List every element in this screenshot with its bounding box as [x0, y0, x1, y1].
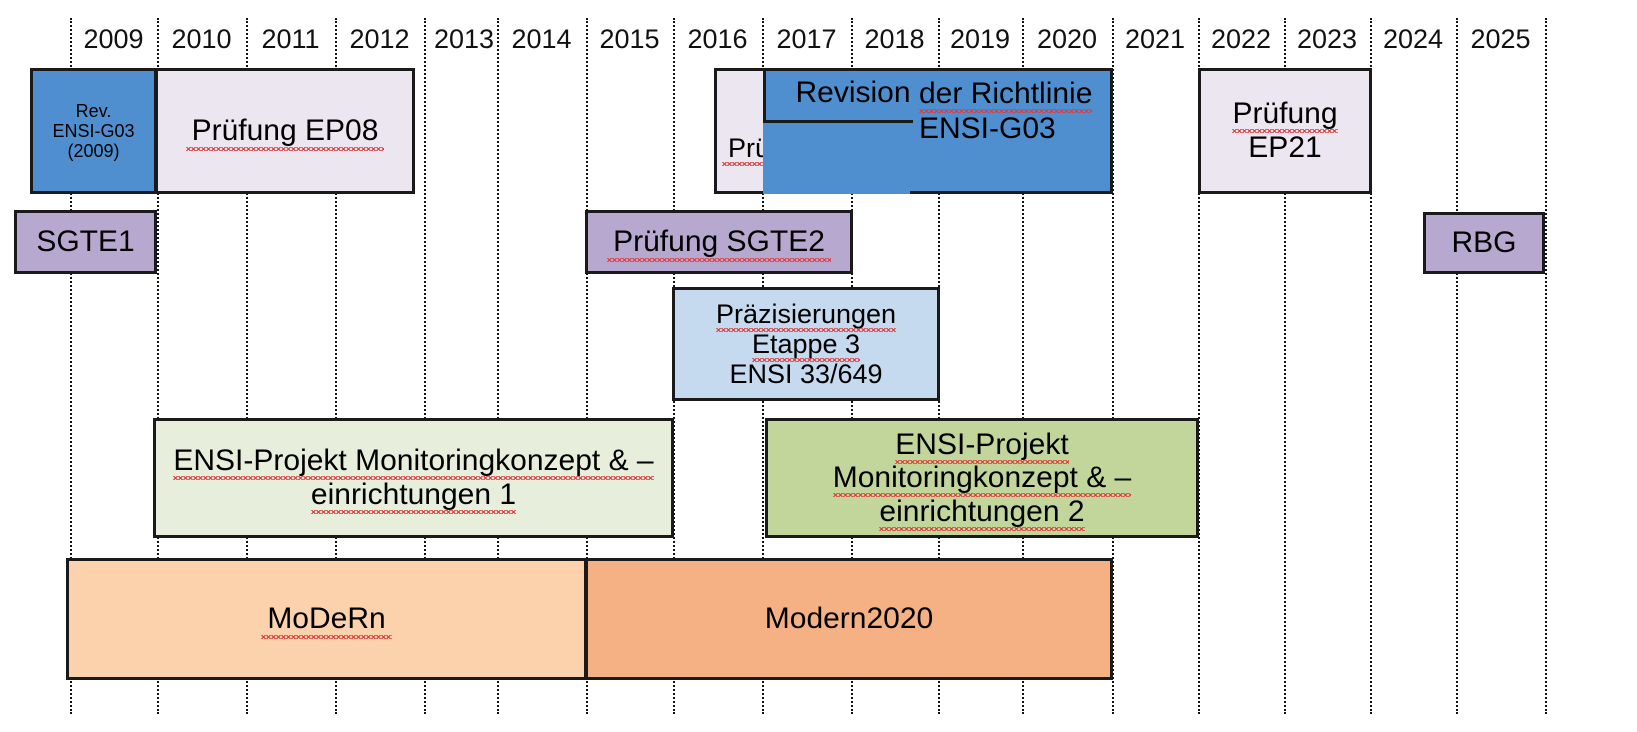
year-label-2017: 2017	[762, 22, 851, 56]
revision-line-1: der Richtlinie	[919, 77, 1092, 110]
year-label-2022: 2022	[1198, 22, 1284, 56]
bar-sgte1[interactable]: SGTE1	[14, 210, 157, 274]
bar-praezisierungen-etappe-3[interactable]: Präzisierungen Etappe 3 ENSI 33/649	[672, 287, 940, 401]
praez-line-2: Etappe 3	[752, 329, 860, 359]
year-label-2020: 2020	[1022, 22, 1112, 56]
bar-rbg[interactable]: RBG	[1423, 212, 1545, 274]
year-label-2009: 2009	[70, 22, 157, 56]
ensi1-line-2: einrichtungen 1	[311, 478, 516, 511]
rev-line-1: Rev.	[76, 101, 112, 121]
ensi2-line-3: einrichtungen 2	[879, 495, 1084, 528]
year-label-2025: 2025	[1456, 22, 1545, 56]
bar-pruefung-ep08[interactable]: Prüfung EP08	[155, 68, 415, 194]
bar-label-sgte1: SGTE1	[30, 225, 140, 259]
bar-pruefung-sgte2[interactable]: Prüfung SGTE2	[585, 210, 853, 274]
rev-line-2: ENSI-G03	[52, 121, 134, 141]
bar-label-revision-lines: der Richtlinie ENSI-G03	[913, 76, 1125, 147]
revision-left-edge	[763, 68, 766, 123]
bar-label-pruefung-ep21: Prüfung EP21	[1226, 97, 1343, 164]
year-label-2016: 2016	[673, 22, 762, 56]
year-label-2010: 2010	[157, 22, 246, 56]
year-label-2013: 2013	[424, 22, 504, 56]
bar-pruefung-ep21[interactable]: Prüfung EP21	[1198, 68, 1372, 194]
ensi2-line-2: Monitoringkonzept & –	[833, 461, 1132, 494]
rev-line-3: (2009)	[67, 141, 119, 161]
revision-line-2: ENSI-G03	[919, 112, 1056, 145]
timeline-chart: 2009 2010 2011 2012 2013 2014 2015 2016 …	[0, 0, 1637, 732]
bar-revision-richtlinie-ensi-g03[interactable]: Revision der Richtlinie ENSI-G03	[763, 68, 1113, 194]
bar-modern[interactable]: MoDeRn	[66, 558, 587, 680]
revision-notch-edge	[763, 120, 913, 123]
ep21-line-1: Prüfung	[1232, 97, 1337, 130]
year-label-2011: 2011	[246, 22, 335, 56]
bar-label-modern2020: Modern2020	[759, 602, 939, 636]
year-label-2015: 2015	[586, 22, 673, 56]
bar-ensi-projekt-monitoring-1[interactable]: ENSI-Projekt Monitoringkonzept & – einri…	[153, 418, 674, 538]
praez-line-1: Präzisierungen	[716, 299, 896, 329]
bar-label-pruefung-sgte2: Prüfung SGTE2	[607, 225, 831, 259]
gridline-2026-right	[1545, 18, 1547, 714]
bar-label-revision-word: Revision	[777, 76, 929, 110]
bar-label-rbg: RBG	[1445, 226, 1522, 260]
year-label-2019: 2019	[938, 22, 1022, 56]
ep21-line-2: EP21	[1248, 131, 1321, 164]
year-label-2021: 2021	[1112, 22, 1198, 56]
bar-modern2020[interactable]: Modern2020	[585, 558, 1113, 680]
year-label-2012: 2012	[335, 22, 424, 56]
bar-label-praezisierungen: Präzisierungen Etappe 3 ENSI 33/649	[710, 299, 902, 390]
bar-ensi-projekt-monitoring-2[interactable]: ENSI-Projekt Monitoringkonzept & – einri…	[765, 418, 1199, 538]
bar-label-pruefung-ep08: Prüfung EP08	[186, 114, 385, 148]
bar-rev-ensi-g03-2009[interactable]: Rev. ENSI-G03 (2009)	[30, 68, 157, 194]
year-label-2024: 2024	[1370, 22, 1456, 56]
bar-label-ensi-projekt-1: ENSI-Projekt Monitoringkonzept & – einri…	[167, 444, 659, 511]
year-label-2018: 2018	[851, 22, 938, 56]
bar-label-modern: MoDeRn	[261, 602, 391, 636]
ensi2-line-1: ENSI-Projekt	[895, 428, 1068, 461]
praez-line-3: ENSI 33/649	[729, 359, 882, 389]
gridline-2025	[1456, 18, 1458, 714]
year-label-2023: 2023	[1284, 22, 1370, 56]
bar-label-rev-ensi-g03: Rev. ENSI-G03 (2009)	[46, 101, 140, 161]
year-label-2014: 2014	[497, 22, 586, 56]
ensi1-line-1: ENSI-Projekt Monitoringkonzept & –	[173, 444, 653, 477]
bar-label-ensi-projekt-2: ENSI-Projekt Monitoringkonzept & – einri…	[827, 428, 1138, 529]
